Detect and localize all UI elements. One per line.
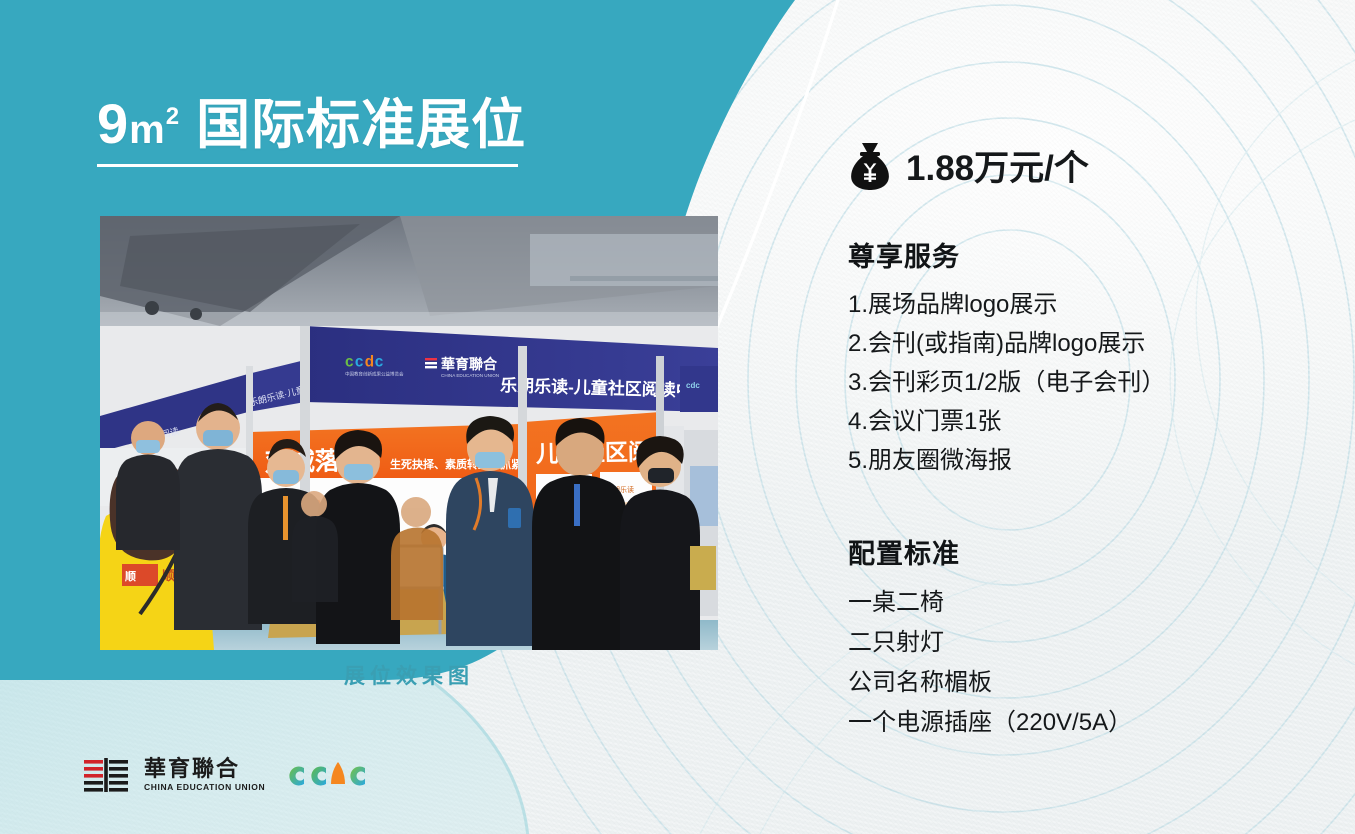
svg-text:d: d	[365, 354, 374, 371]
photo-caption: 展位效果图	[100, 660, 718, 690]
list-item: 一个电源插座（220V/5A）	[848, 703, 1318, 743]
svg-text:華育聯合: 華育聯合	[441, 356, 498, 372]
title-text: 国际标准展位	[196, 95, 526, 155]
booth-photo: 阅读 乐朗乐读·儿童社区阅读中心 c c d c 中国教育创新成果公益博览会 華…	[100, 216, 718, 650]
svg-text:中国教育创新成果公益博览会: 中国教育创新成果公益博览会	[345, 371, 404, 378]
svg-text:c: c	[345, 354, 354, 371]
list-item: 公司名称楣板	[848, 663, 1318, 703]
money-bag-icon	[848, 141, 892, 191]
union-logo-mark-icon	[84, 758, 128, 792]
cdc-logo-icon	[285, 760, 369, 790]
services-heading: 尊享服务	[848, 235, 1318, 274]
page-title-block: 9m2 国际标准展位	[97, 96, 617, 152]
svg-text:c: c	[375, 354, 384, 371]
booth-photo-illustration: 阅读 乐朗乐读·儿童社区阅读中心 c c d c 中国教育创新成果公益博览会 華…	[100, 216, 718, 650]
svg-text:CHINA EDUCATION UNION: CHINA EDUCATION UNION	[441, 373, 499, 378]
title-number: 9	[97, 92, 129, 155]
config-list: 一桌二椅 二只射灯 公司名称楣板 一个电源插座（220V/5A）	[848, 583, 1318, 742]
details-panel: 1.88万元/个 尊享服务 1.展场品牌logo展示 2.会刊(或指南)品牌lo…	[848, 140, 1318, 743]
list-item: 2.会刊(或指南)品牌logo展示	[848, 325, 1318, 364]
title-underline	[97, 164, 518, 167]
title-unit: m	[129, 108, 166, 152]
price-row: 1.88万元/个	[848, 140, 1318, 191]
page-title: 9m2 国际标准展位	[97, 96, 617, 152]
list-item: 5.朋友圈微海报	[848, 442, 1318, 481]
price-amount: 1.88万元/个	[906, 140, 1089, 191]
svg-text:c: c	[355, 354, 364, 371]
brand-name-cn: 華育聯合	[144, 757, 265, 780]
config-heading: 配置标准	[848, 532, 1318, 571]
list-item: 3.会刊彩页1/2版（电子会刊）	[848, 364, 1318, 403]
list-item: 1.展场品牌logo展示	[848, 286, 1318, 325]
list-item: 二只射灯	[848, 623, 1318, 663]
slide-canvas: 9m2 国际标准展位	[0, 0, 1355, 834]
svg-text:cdc: cdc	[686, 381, 700, 390]
brand-name-en: CHINA EDUCATION UNION	[144, 782, 265, 792]
footer-branding: 華育聯合 CHINA EDUCATION UNION	[84, 757, 369, 792]
list-item: 一桌二椅	[848, 583, 1318, 623]
services-list: 1.展场品牌logo展示 2.会刊(或指南)品牌logo展示 3.会刊彩页1/2…	[848, 286, 1318, 480]
list-item: 4.会议门票1张	[848, 403, 1318, 442]
union-logo-text: 華育聯合 CHINA EDUCATION UNION	[144, 757, 265, 792]
svg-text:顺: 顺	[125, 569, 136, 583]
title-superscript: 2	[166, 103, 180, 130]
